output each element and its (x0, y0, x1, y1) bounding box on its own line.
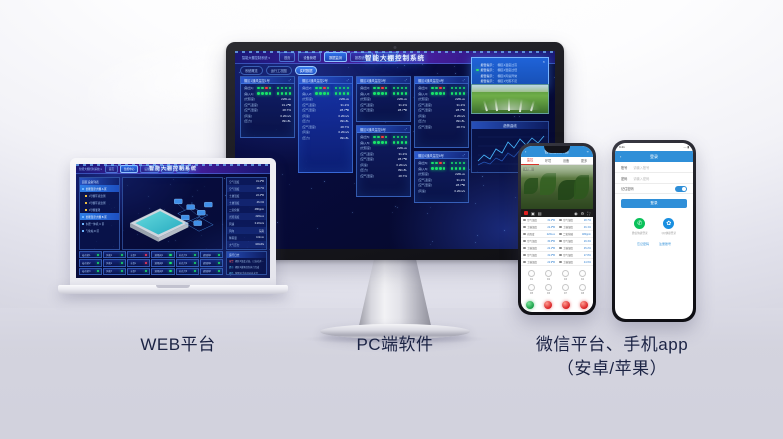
device-label: 卷帘机1 (82, 253, 91, 257)
monitor-subnav-item-1[interactable]: 运行工况图 (266, 66, 292, 75)
led-indicator (381, 141, 383, 143)
log-tag: 报警 (229, 259, 234, 263)
login-link-1[interactable]: 注册账号 (659, 242, 671, 246)
login-fields[interactable]: 账号请输入账号密码请输入密码 (615, 162, 693, 184)
sensor-row-13: 土壤湿度44.6% (557, 259, 593, 266)
sidebar-item-label: 智能温室大棚 A 区 (86, 187, 107, 191)
data-row-6: 风速0.20m/s (227, 220, 266, 227)
data-card[interactable]: 棚区1通风温控1号⤢[输出1][输入1][光照度]226Lux[空气温度]31.… (240, 76, 295, 138)
knob-7[interactable]: D8 (574, 282, 591, 296)
led-indicator (261, 92, 263, 94)
status-dot (476, 69, 479, 72)
data-row: [压力]391.8L (244, 119, 291, 123)
device-status-led (145, 254, 147, 256)
node-icon (85, 209, 87, 211)
device-chip-13[interactable]: 风机3 (103, 268, 126, 275)
data-label: [空气温度] (360, 103, 374, 107)
card-header: 棚区2通风温控2号⤢ (299, 77, 352, 84)
data-label: [空气湿度] (302, 108, 316, 112)
data-value: 226Lux (397, 146, 407, 150)
sensor-icon (523, 240, 526, 243)
expand-icon[interactable]: ⤢ (463, 78, 465, 82)
led-indicator (323, 92, 325, 94)
device-label: 遮阳网3 (203, 269, 212, 273)
alarm-text: 棚区1光照不足 (498, 79, 518, 83)
device-label: 卷帘机2 (82, 261, 91, 265)
led-indicator (285, 92, 287, 94)
device-status-led (97, 254, 99, 256)
data-row: [空气温度]31.2℃ (244, 103, 291, 107)
led-indicator (327, 92, 329, 94)
monitor-stand-neck (358, 258, 432, 330)
sidebar-item-3[interactable]: 3号棚灌溉 (80, 206, 119, 213)
sensor-icon (559, 247, 562, 250)
knob-label: D4 (581, 278, 584, 281)
led-indicator (277, 92, 279, 94)
led-group (373, 87, 407, 89)
data-value: 28.7% (340, 125, 349, 129)
login-links[interactable]: 忘记密码注册账号 (615, 240, 693, 246)
data-label: [风速] (302, 114, 310, 118)
led-indicator (439, 162, 441, 164)
monitor-nav-item-1[interactable]: 设备管理 (298, 52, 321, 62)
settings-icon[interactable]: ⚙ (581, 211, 585, 216)
sidebar-item-4[interactable]: 智能温室大棚 B 区 (80, 213, 119, 220)
action-button-row[interactable] (521, 298, 593, 311)
led-indicator (289, 92, 291, 94)
app-tabs[interactable]: 监控环境设备更多 (521, 157, 593, 165)
device-status-strip[interactable]: 卷帘机1风机1水泵1灌溉阀1补光灯1遮阳网1卷帘机2风机2水泵2灌溉阀2补光灯2… (79, 251, 223, 275)
device-label: 补光灯2 (179, 261, 188, 265)
laptop-hinge-notch (156, 285, 190, 288)
phone-body: ‹ 智能控制大棚 ⌁ 监控环境设备更多 1号棚 ▣ ▤ ◉ ⚙ ⛶ (518, 143, 596, 315)
data-row: [光照度]226Lux (418, 172, 465, 176)
device-chip-0[interactable]: 卷帘机1 (79, 251, 102, 258)
data-row: [风速]0.20m/s (302, 130, 349, 134)
wechat-icon-wrap[interactable]: ✆微信快捷登录 (632, 218, 648, 235)
back-icon[interactable]: ‹ (620, 154, 621, 159)
data-value: 28.7℃ (456, 108, 465, 112)
data-row: [空气温度]31.2% (418, 178, 465, 182)
data-label: [压力] (418, 119, 426, 123)
led-group (373, 92, 407, 94)
sensor-icon (523, 226, 526, 229)
led-indicator (289, 87, 291, 89)
back-icon[interactable]: ‹ (525, 149, 526, 154)
device-label: 遮阳网1 (203, 253, 212, 257)
expand-icon[interactable]: ⤢ (463, 153, 465, 157)
data-card[interactable]: 棚区6通风温控6号⤢[输出6][输入6][光照度]226Lux[空气温度]31.… (414, 151, 469, 203)
led-indicator (439, 92, 441, 94)
expand-icon[interactable]: ⤢ (347, 78, 349, 82)
knob-dial[interactable] (579, 270, 586, 277)
data-row: [风速]0.20m/s (418, 114, 465, 118)
device-label: 灌溉阀3 (154, 269, 163, 273)
knob-4[interactable]: D5 (523, 282, 540, 296)
sidebar-item-5[interactable]: 水肥一体机 C 区 (80, 220, 119, 227)
data-label: [空气湿度] (418, 183, 432, 187)
knob-label: D2 (547, 278, 550, 281)
data-value: 31.2℃ (256, 180, 264, 184)
led-group (431, 87, 465, 89)
device-chip-8[interactable]: 水泵2 (127, 259, 150, 266)
knob-dial[interactable] (528, 270, 535, 277)
data-card[interactable]: 棚区2通风温控2号⤢[输出2][输入2][光照度]226Lux[空气温度]31.… (298, 76, 353, 173)
alarm-name: 报警提示： (481, 74, 496, 78)
data-row: [光照度]226Lux (302, 97, 349, 101)
device-chip-12[interactable]: 卷帘机3 (79, 268, 102, 275)
monitor-subnav-item-2[interactable]: 实时数据 (295, 66, 318, 75)
led-group (257, 92, 291, 94)
data-label: [空气温度] (418, 178, 432, 182)
monitor-camera-icon (394, 46, 397, 49)
data-value: 28.7% (257, 187, 264, 191)
data-label: [空气湿度] (244, 108, 258, 112)
sensor-value: 45.2% (584, 247, 591, 250)
sensor-icon (559, 233, 562, 236)
device-chip-9[interactable]: 灌溉阀2 (151, 259, 174, 266)
data-value: 0.20m/s (454, 114, 465, 118)
led-indicator (431, 87, 433, 89)
data-label: [空气湿度] (360, 157, 374, 161)
device-chip-15[interactable]: 灌溉阀3 (151, 268, 174, 275)
led-row-label: [输出1] (244, 86, 253, 90)
knob-label: D5 (530, 292, 533, 295)
led-indicator (451, 167, 453, 169)
page-title: 智能大棚控制系统 (149, 165, 197, 172)
led-indicator (405, 87, 407, 89)
led-indicator (435, 167, 437, 169)
sensor-icon (523, 254, 526, 257)
data-row: [风速]0.20m/s (244, 114, 291, 118)
monitor-subnav[interactable]: 系统概览运行工况图实时数据 (240, 66, 317, 75)
device-chip-10[interactable]: 补光灯2 (176, 259, 199, 266)
led-indicator (393, 141, 395, 143)
data-label: [空气温度] (418, 103, 432, 107)
video-icon[interactable]: ▤ (538, 211, 542, 216)
data-value: 391.8L (398, 168, 407, 172)
close-icon[interactable]: × (543, 59, 545, 64)
laptop-nav-item-0[interactable]: 首页 (105, 165, 118, 173)
sidebar-item-0[interactable]: 智能温室大棚 A 区 (80, 185, 119, 192)
led-indicator (439, 87, 441, 89)
remember-password-row[interactable]: 记住密码 (615, 184, 693, 194)
field-placeholder: 请输入账号 (633, 165, 649, 170)
sensor-name: 空气温度 (527, 253, 537, 257)
login-field-1[interactable]: 密码请输入密码 (615, 173, 693, 184)
data-value: 28.7℃ (398, 108, 407, 112)
data-value: 28.7% (398, 174, 407, 178)
led-row: [输入2] (302, 92, 349, 96)
phone-screen: 9:41 ⋯ ▮ ‹ 登录 账号请输入账号密码请输入密码 记住密码 登录 ✆微信… (615, 143, 693, 319)
stop-button-2[interactable] (562, 301, 570, 309)
phone-notch (544, 146, 570, 153)
led-indicator (443, 92, 445, 94)
sidebar-item-2[interactable]: 2号棚环境监测 (80, 199, 119, 206)
share-icon[interactable]: ⌁ (587, 149, 589, 154)
sensor-row-5: 二氧化碳480ppm (557, 231, 593, 238)
data-label: [空气湿度] (360, 174, 374, 178)
wechat-icon[interactable]: ✆ (634, 218, 645, 229)
laptop-sidebar[interactable]: 园区设备列表 智能温室大棚 A 区1号棚环境监测2号棚环境监测3号棚灌溉智能温室… (79, 177, 120, 250)
data-row: [空气温度]31.2% (360, 103, 407, 107)
data-value: 28.7℃ (340, 108, 349, 112)
card-title: 棚区4通风温控4号 (418, 78, 444, 83)
device-label: 风机1 (106, 253, 112, 257)
device-chip-7[interactable]: 风机2 (103, 259, 126, 266)
device-chip-3[interactable]: 灌溉阀1 (151, 251, 174, 258)
data-card[interactable]: 棚区3通风温控3号⤢[输出3][输入3][光照度]226Lux[空气温度]31.… (356, 76, 411, 122)
led-indicator (431, 162, 433, 164)
device-chip-2[interactable]: 水泵1 (127, 251, 150, 258)
led-indicator (347, 87, 349, 89)
camera-feed[interactable]: 1号棚 (521, 165, 593, 209)
led-row: [输入4] (418, 92, 465, 96)
iso-diagram (123, 178, 222, 249)
monitor-subnav-item-0[interactable]: 系统概览 (240, 66, 263, 75)
login-button[interactable]: 登录 (621, 199, 687, 208)
led-indicator (401, 141, 403, 143)
phone-body: 9:41 ⋯ ▮ ‹ 登录 账号请输入账号密码请输入密码 记住密码 登录 ✆微信… (612, 140, 696, 322)
data-row: [风速]0.20m/s (360, 163, 407, 167)
knob-dial[interactable] (579, 284, 586, 291)
data-card[interactable]: 棚区5通风温控5号⤢[输出5][输入5][光照度]226Lux[空气温度]31.… (356, 125, 411, 197)
device-label: 卷帘机3 (82, 269, 91, 273)
led-indicator (431, 92, 433, 94)
knob-3[interactable]: D4 (574, 268, 591, 282)
sensor-value: 46.1% (584, 226, 591, 229)
log-text: 管理员手动开启补光灯 (235, 271, 258, 275)
led-indicator (455, 92, 457, 94)
led-indicator (439, 167, 441, 169)
data-row: [风速]0.20m/s (302, 114, 349, 118)
card-header: 棚区6通风温控6号⤢ (415, 152, 468, 159)
device-label: 水泵2 (130, 261, 136, 265)
led-indicator (459, 87, 461, 89)
data-label: [光照度] (302, 97, 313, 101)
greenhouse-3d-view[interactable] (122, 177, 223, 250)
data-value: 0.20m/s (396, 163, 407, 167)
knob-6[interactable]: D7 (557, 282, 574, 296)
knob-dial[interactable] (545, 270, 552, 277)
sensor-icon (523, 219, 526, 222)
knob-0[interactable]: D1 (523, 268, 540, 282)
control-knob-grid[interactable]: D1D2D3D4D5D6D7D8 (521, 266, 593, 298)
sensor-name: 土壤湿度 (563, 225, 573, 229)
node-icon (82, 230, 84, 232)
data-label: [空气温度] (360, 152, 374, 156)
data-row-4: 二氧化碳480ppm (227, 206, 266, 213)
knob-dial[interactable] (528, 284, 535, 291)
laptop-nav-item-1[interactable]: 监控中心 (120, 165, 138, 173)
remember-toggle[interactable] (675, 186, 687, 192)
card-title: 棚区5通风温控5号 (360, 127, 386, 132)
knob-label: D3 (564, 278, 567, 281)
device-status-led (169, 270, 171, 272)
app-tab-2[interactable]: 设备 (557, 157, 575, 165)
device-chip-4[interactable]: 补光灯1 (176, 251, 199, 258)
expand-icon[interactable]: ⤢ (289, 78, 291, 82)
knob-dial[interactable] (562, 284, 569, 291)
alarm-item: 报警提示：棚区2湿度过低 (476, 68, 544, 72)
sensor-value: 226Lux (547, 233, 555, 236)
data-label: 大气压力 (229, 243, 239, 247)
knob-dial[interactable] (562, 270, 569, 277)
sensor-value: 27.8% (584, 254, 591, 257)
led-indicator (281, 92, 283, 94)
knob-5[interactable]: D6 (540, 282, 557, 296)
remember-label: 记住密码 (621, 186, 634, 191)
data-label: [光照度] (418, 172, 429, 176)
camera-controls[interactable]: ▣ ▤ ◉ ⚙ ⛶ (521, 209, 593, 217)
knob-dial[interactable] (545, 284, 552, 291)
social-caption: 微信快捷登录 (632, 231, 648, 235)
data-row: [压力]391.8L (302, 119, 349, 123)
stop-button-1[interactable] (544, 301, 552, 309)
data-label: [光照度] (418, 97, 429, 101)
data-label: [空气温度] (302, 103, 316, 107)
login-field-0[interactable]: 账号请输入账号 (615, 162, 693, 173)
app-tab-0[interactable]: 监控 (521, 156, 539, 165)
sensor-name: 土壤湿度 (563, 260, 573, 264)
start-button[interactable] (526, 301, 534, 309)
sensor-value: 480ppm (582, 233, 591, 236)
led-indicator (261, 87, 263, 89)
stop-button-3[interactable] (580, 301, 588, 309)
led-indicator (451, 162, 453, 164)
data-value: 226Lux (455, 172, 465, 176)
led-indicator (401, 87, 403, 89)
device-status-led (97, 270, 99, 272)
mic-icon[interactable]: ◉ (574, 211, 578, 216)
device-status-led (218, 262, 220, 264)
card-title: 棚区3通风温控3号 (360, 78, 386, 83)
data-value: 31.2% (340, 103, 349, 107)
led-row-label: [输出4] (418, 86, 427, 90)
record-icon[interactable] (524, 211, 528, 215)
data-value: 1.28 (259, 250, 264, 251)
log-text: 棚区4温度过高，已自动开启风机 (235, 259, 264, 263)
monitor-nav-item-0[interactable]: 首页 (279, 52, 295, 62)
caption-mobile-line2: （安卓/苹果） (512, 357, 712, 382)
alarm-item: 报警提示：棚区6风速异常 (476, 74, 544, 78)
device-label: 风机3 (106, 269, 112, 273)
device-chip-6[interactable]: 卷帘机2 (79, 259, 102, 266)
card-header: 棚区4通风温控4号⤢ (415, 77, 468, 84)
sidebar-item-label: 3号棚灌溉 (89, 208, 101, 212)
sidebar-item-6[interactable]: 气象站 D 区 (80, 227, 119, 234)
laptop-device: 智能大棚控制系统 ▾ 首页监控中心设备列表报表设置 智能大棚控制系统 园区设备列… (58, 158, 288, 310)
data-label: [压力] (244, 119, 252, 123)
app-tab-1[interactable]: 环境 (539, 157, 557, 165)
log-text: 棚区2灌溉任务执行完成 (235, 265, 259, 269)
sensor-value: 44.6% (584, 261, 591, 264)
phone-screen: ‹ 智能控制大棚 ⌁ 监控环境设备更多 1号棚 ▣ ▤ ◉ ⚙ ⛶ (521, 146, 593, 312)
expand-icon[interactable]: ⤢ (405, 127, 407, 131)
phone-app-device: ‹ 智能控制大棚 ⌁ 监控环境设备更多 1号棚 ▣ ▤ ◉ ⚙ ⛶ (518, 143, 596, 315)
app-tab-3[interactable]: 更多 (575, 157, 593, 165)
card-header: 棚区5通风温控5号⤢ (357, 126, 410, 133)
data-value: 28.7℃ (398, 157, 407, 161)
monitor-nav-item-2[interactable]: 数据监测 (324, 52, 347, 62)
live-video-tile[interactable] (471, 84, 549, 114)
card-header: 棚区1通风温控1号⤢ (241, 77, 294, 84)
device-status-led (145, 262, 147, 264)
sensor-value: 22.4℃ (547, 226, 555, 229)
device-chip-5[interactable]: 遮阳网1 (200, 251, 223, 258)
sensor-value: 22.9℃ (547, 261, 555, 264)
sensor-row-9: 土壤湿度45.2% (557, 245, 593, 252)
social-login-row[interactable]: ✆微信快捷登录✿QQ快捷登录 (615, 213, 693, 240)
led-indicator (405, 136, 407, 138)
sidebar-item-1[interactable]: 1号棚环境监测 (80, 192, 119, 199)
data-label: 空气湿度 (229, 187, 239, 191)
led-row-label: [输出2] (302, 86, 311, 90)
knob-label: D1 (530, 278, 533, 281)
device-chip-1[interactable]: 风机1 (103, 251, 126, 258)
data-value: 480ppm (255, 208, 264, 212)
led-indicator (373, 92, 375, 94)
sensor-name: 土壤温度 (527, 246, 537, 250)
caption-pc: PC端软件 (305, 333, 485, 358)
sensor-icon (559, 261, 562, 264)
qq-icon[interactable]: ✿ (663, 218, 674, 229)
sensor-row-7: 空气湿度29.4% (557, 238, 593, 245)
alarm-text: 棚区6风速异常 (498, 74, 518, 78)
led-group (315, 92, 349, 94)
led-indicator (385, 87, 387, 89)
knob-label: D7 (564, 292, 567, 295)
sensor-row-4: 光照度226Lux (521, 231, 557, 238)
led-indicator (257, 92, 259, 94)
sensor-grid: 空气温度31.2℃空气湿度28.7%土壤温度22.4℃土壤湿度46.1%光照度2… (521, 217, 593, 266)
knob-1[interactable]: D2 (540, 268, 557, 282)
data-value: 0.20m/s (255, 222, 264, 226)
fullscreen-icon[interactable]: ⛶ (587, 211, 590, 216)
alarm-item: 报警提示：棚区1光照不足 (476, 79, 544, 83)
expand-icon[interactable]: ⤢ (405, 78, 407, 82)
device-chip-14[interactable]: 水泵3 (127, 268, 150, 275)
device-chip-17[interactable]: 遮阳网3 (200, 268, 223, 275)
led-group (315, 87, 349, 89)
device-chip-11[interactable]: 遮阳网2 (200, 259, 223, 266)
data-label: [空气湿度] (418, 125, 432, 129)
device-status-led (169, 254, 171, 256)
sensor-value: 31.0℃ (547, 254, 555, 257)
led-group (431, 92, 465, 94)
led-indicator (435, 87, 437, 89)
led-indicator (281, 87, 283, 89)
device-chip-16[interactable]: 补光灯3 (176, 268, 199, 275)
led-row-label: [输入5] (360, 141, 369, 145)
sensor-name: 二氧化碳 (563, 232, 573, 236)
laptop-topbar: 智能大棚控制系统 ▾ 首页监控中心设备列表报表设置 智能大棚控制系统 (76, 164, 270, 174)
data-label: [风速] (244, 114, 252, 118)
data-card[interactable]: 棚区4通风温控4号⤢[输出4][输入4][光照度]226Lux[空气温度]31.… (414, 76, 469, 148)
login-link-0[interactable]: 忘记密码 (637, 242, 649, 246)
data-label: [压力] (360, 168, 368, 172)
sensor-value: 30.6℃ (547, 240, 555, 243)
data-value: 391.8L (282, 119, 291, 123)
data-value: 0.20m/s (280, 114, 291, 118)
camera-icon[interactable]: ▣ (531, 211, 535, 216)
data-value: 28.7% (282, 108, 291, 112)
knob-2[interactable]: D3 (557, 268, 574, 282)
led-indicator (315, 87, 317, 89)
sensor-icon (559, 240, 562, 243)
sensor-row-12: 土壤温度22.9℃ (521, 259, 557, 266)
qq-icon-wrap[interactable]: ✿QQ快捷登录 (662, 218, 676, 235)
